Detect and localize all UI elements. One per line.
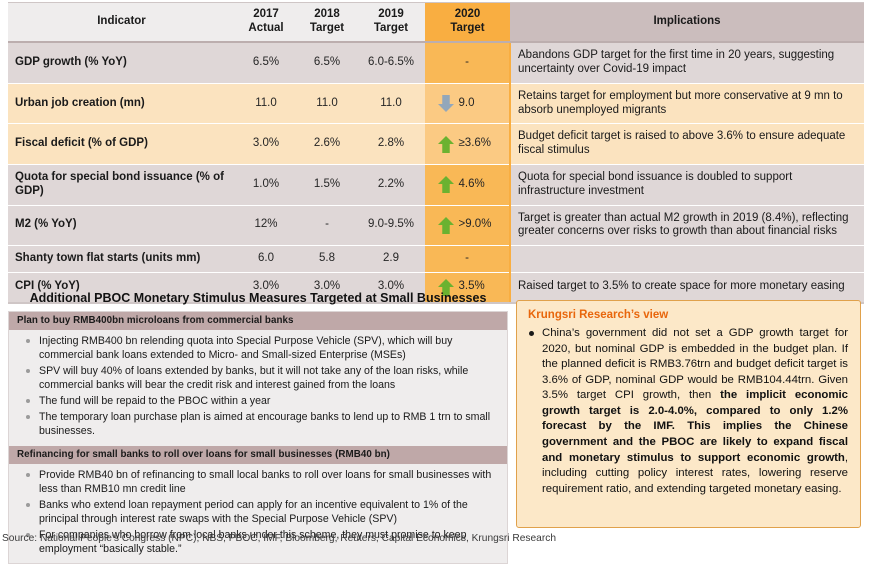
stimulus-bullet-list: Injecting RMB400 bn relending quota into… <box>9 330 507 446</box>
stimulus-section: Additional PBOC Monetary Stimulus Measur… <box>8 288 508 564</box>
cell-y2017: 6.0 <box>235 246 297 273</box>
header-2020-year: 2020 <box>455 8 481 20</box>
cell-y2018: 11.0 <box>297 83 357 124</box>
cell-y2018: - <box>297 205 357 246</box>
cell-y2019: 11.0 <box>357 83 425 124</box>
cell-indicator: Shanty town flat starts (units mm) <box>8 246 235 273</box>
cell-indicator: Fiscal deficit (% of GDP) <box>8 124 235 165</box>
column-header-2018-target: 2018 Target <box>297 3 357 43</box>
cell-y2020-target: 4.6% <box>425 164 510 205</box>
research-view-list: China’s government did not set a GDP gro… <box>528 326 848 497</box>
cell-y2018: 5.8 <box>297 246 357 273</box>
arrow-down-icon <box>438 95 454 112</box>
table-row: GDP growth (% YoY)6.5%6.5%6.0-6.5%-Aband… <box>8 42 864 83</box>
list-item: Injecting RMB400 bn relending quota into… <box>17 334 497 362</box>
cell-y2020-value: - <box>465 56 469 70</box>
cell-y2020-target: ≥3.6% <box>425 124 510 165</box>
list-item: SPV will buy 40% of loans extended by ba… <box>17 364 497 392</box>
target-value-group: - <box>432 56 502 70</box>
cell-implication: Target is greater than actual M2 growth … <box>510 205 864 246</box>
arrow-up-icon <box>438 217 454 234</box>
cell-y2020-target: - <box>425 42 510 83</box>
list-item: Banks who extend loan repayment period c… <box>17 498 497 526</box>
header-2019-label: Target <box>374 22 408 34</box>
cell-y2020-value: >9.0% <box>459 218 497 232</box>
cell-implication <box>510 246 864 273</box>
indicator-table: Indicator 2017 Actual 2018 Target 2019 T… <box>8 2 864 304</box>
stimulus-box: Plan to buy RMB400bn microloans from com… <box>8 311 508 564</box>
research-view-title: Krungsri Research’s view <box>528 309 848 321</box>
table-row: M2 (% YoY)12%-9.0-9.5%>9.0%Target is gre… <box>8 205 864 246</box>
cell-y2018: 6.5% <box>297 42 357 83</box>
table-row: Shanty town flat starts (units mm)6.05.8… <box>8 246 864 273</box>
target-value-group: 9.0 <box>432 95 502 112</box>
table-row: Urban job creation (mn)11.011.011.09.0Re… <box>8 83 864 124</box>
cell-implication: Raised target to 3.5% to create space fo… <box>510 272 864 303</box>
header-2017-label: Actual <box>248 22 283 34</box>
cell-y2020-value: 4.6% <box>459 178 497 192</box>
source-note: Source: National People's Congress (NPC)… <box>2 533 556 544</box>
stimulus-title: Additional PBOC Monetary Stimulus Measur… <box>8 288 508 311</box>
list-item: The temporary loan purchase plan is aime… <box>17 410 497 438</box>
research-view-panel: Krungsri Research’s view China’s governm… <box>516 300 861 528</box>
list-item: The fund will be repaid to the PBOC with… <box>17 394 497 408</box>
cell-y2017: 6.5% <box>235 42 297 83</box>
stimulus-bullet-list: Provide RMB40 bn of refinancing to small… <box>9 464 507 563</box>
table-header-row: Indicator 2017 Actual 2018 Target 2019 T… <box>8 3 864 43</box>
column-header-implications: Implications <box>510 3 864 43</box>
cell-y2018: 2.6% <box>297 124 357 165</box>
cell-y2020-target: 9.0 <box>425 83 510 124</box>
cell-y2017: 11.0 <box>235 83 297 124</box>
cell-y2020-value: ≥3.6% <box>459 137 497 151</box>
cell-y2017: 3.0% <box>235 124 297 165</box>
cell-y2017: 1.0% <box>235 164 297 205</box>
cell-y2019: 6.0-6.5% <box>357 42 425 83</box>
table-head: Indicator 2017 Actual 2018 Target 2019 T… <box>8 3 864 43</box>
arrow-up-icon <box>438 136 454 153</box>
header-2017-year: 2017 <box>253 8 279 20</box>
list-item: Provide RMB40 bn of refinancing to small… <box>17 468 497 496</box>
target-value-group: 4.6% <box>432 176 502 193</box>
cell-implication: Abandons GDP target for the first time i… <box>510 42 864 83</box>
column-header-2019-target: 2019 Target <box>357 3 425 43</box>
header-2018-year: 2018 <box>314 8 340 20</box>
cell-implication: Retains target for employment but more c… <box>510 83 864 124</box>
indicator-table-container: Indicator 2017 Actual 2018 Target 2019 T… <box>8 2 864 304</box>
cell-indicator: M2 (% YoY) <box>8 205 235 246</box>
cell-y2020-value: 9.0 <box>459 97 497 111</box>
table-row: Quota for special bond issuance (% of GD… <box>8 164 864 205</box>
cell-indicator: GDP growth (% YoY) <box>8 42 235 83</box>
cell-y2020-value: - <box>465 252 469 266</box>
cell-y2019: 9.0-9.5% <box>357 205 425 246</box>
cell-y2020-target: - <box>425 246 510 273</box>
cell-y2018: 1.5% <box>297 164 357 205</box>
column-header-2017-actual: 2017 Actual <box>235 3 297 43</box>
arrow-up-icon <box>438 176 454 193</box>
header-2018-label: Target <box>310 22 344 34</box>
cell-y2019: 2.9 <box>357 246 425 273</box>
cell-y2017: 12% <box>235 205 297 246</box>
cell-y2020-target: >9.0% <box>425 205 510 246</box>
target-value-group: ≥3.6% <box>432 136 502 153</box>
header-2019-year: 2019 <box>378 8 404 20</box>
target-value-group: >9.0% <box>432 217 502 234</box>
cell-implication: Quota for special bond issuance is doubl… <box>510 164 864 205</box>
cell-y2019: 2.2% <box>357 164 425 205</box>
target-value-group: - <box>432 252 502 266</box>
stimulus-section-header: Plan to buy RMB400bn microloans from com… <box>9 312 507 330</box>
cell-indicator: Quota for special bond issuance (% of GD… <box>8 164 235 205</box>
cell-y2019: 2.8% <box>357 124 425 165</box>
header-2020-label: Target <box>450 22 484 34</box>
column-header-2020-target: 2020 Target <box>425 3 510 43</box>
research-view-paragraph: China’s government did not set a GDP gro… <box>528 326 848 497</box>
column-header-indicator: Indicator <box>8 3 235 43</box>
table-body: GDP growth (% YoY)6.5%6.5%6.0-6.5%-Aband… <box>8 42 864 303</box>
stimulus-section-header: Refinancing for small banks to roll over… <box>9 446 507 464</box>
cell-implication: Budget deficit target is raised to above… <box>510 124 864 165</box>
table-row: Fiscal deficit (% of GDP)3.0%2.6%2.8%≥3.… <box>8 124 864 165</box>
cell-indicator: Urban job creation (mn) <box>8 83 235 124</box>
